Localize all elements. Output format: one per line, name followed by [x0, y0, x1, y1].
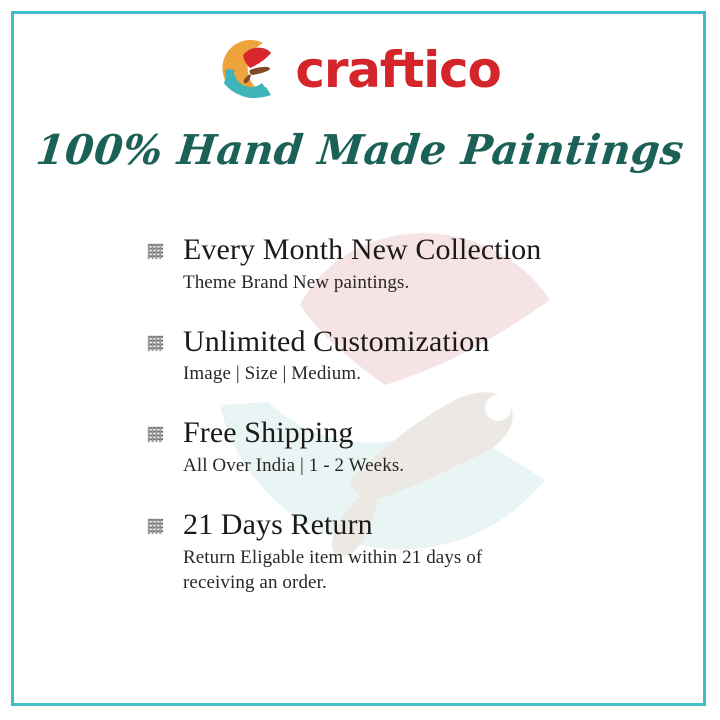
brand-wordmark: craftico: [295, 45, 500, 95]
list-item: 21 Days Return Return Eligable item with…: [146, 508, 646, 595]
woven-mesh-square-icon: [146, 242, 165, 261]
list-item-title: 21 Days Return: [183, 508, 646, 542]
poster-content: craftico 100% Hand Made Paintings: [0, 0, 720, 720]
brand-lockup: craftico: [0, 35, 720, 101]
woven-mesh-square-icon: [146, 425, 165, 444]
list-item-subtitle: Return Eligable item within 21 days of r…: [183, 545, 538, 595]
list-item-subtitle: Theme Brand New paintings.: [183, 270, 646, 295]
promo-poster: craftico 100% Hand Made Paintings: [0, 0, 720, 720]
list-item-title: Unlimited Customization: [183, 325, 646, 359]
list-item-subtitle: All Over India | 1 - 2 Weeks.: [183, 453, 646, 478]
list-item: Free Shipping All Over India | 1 - 2 Wee…: [146, 416, 646, 478]
list-item-subtitle: Image | Size | Medium.: [183, 361, 646, 386]
list-item-title: Every Month New Collection: [183, 233, 646, 267]
list-item: Unlimited Customization Image | Size | M…: [146, 325, 646, 387]
woven-mesh-square-icon: [146, 517, 165, 536]
feature-list: Every Month New Collection Theme Brand N…: [146, 233, 646, 595]
woven-mesh-square-icon: [146, 334, 165, 353]
list-item: Every Month New Collection Theme Brand N…: [146, 233, 646, 295]
page-title: 100% Hand Made Paintings: [0, 128, 720, 173]
craftico-c-paintbrush-logo-icon: [219, 35, 281, 101]
list-item-title: Free Shipping: [183, 416, 646, 450]
